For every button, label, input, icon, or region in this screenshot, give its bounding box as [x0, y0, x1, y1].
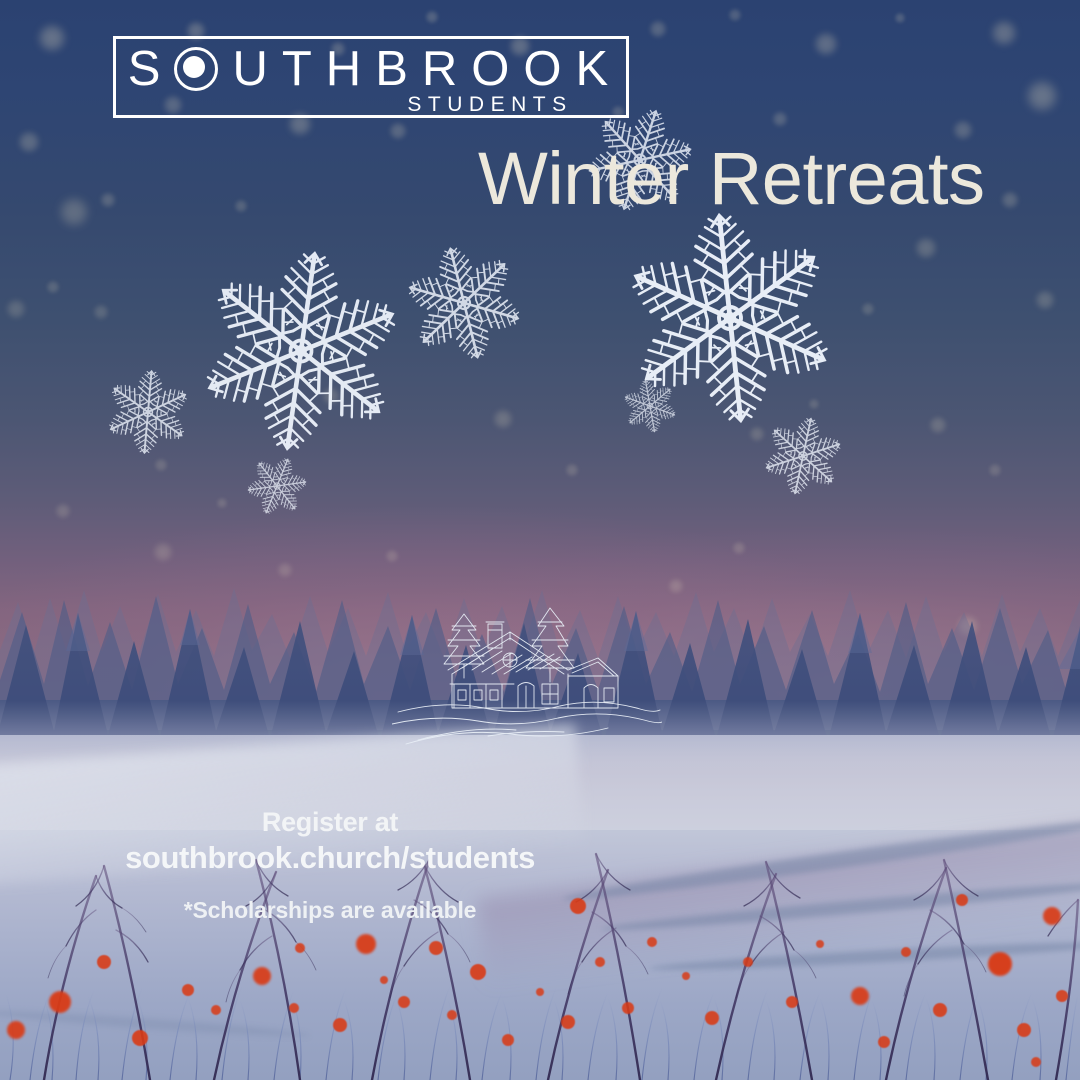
berry-dot [647, 937, 657, 947]
logo-letter-o1: O [471, 45, 509, 94]
berry-dot [536, 988, 544, 996]
winter-retreat-poster: S U T H B R O O K STUDENTS Winter Retrea… [0, 0, 1080, 1080]
berry-dot [1031, 1057, 1041, 1067]
berry-dot [901, 947, 911, 957]
berry-dot [851, 987, 869, 1005]
logo-letter-t: T [282, 45, 312, 94]
berry-dot [447, 1010, 457, 1020]
berry-dot [988, 952, 1012, 976]
berry-dot [7, 1021, 25, 1039]
logo-letter-k: K [576, 45, 609, 94]
logo-submark-students: STUDENTS [395, 95, 585, 115]
page-title: Winter Retreats [478, 142, 985, 216]
berry-dot [1056, 990, 1068, 1002]
logo-letter-b: B [375, 45, 408, 94]
berry-dot [502, 1034, 514, 1046]
berry-dot [356, 934, 376, 954]
aperture-dot-icon [174, 47, 218, 91]
berry-dot [743, 957, 753, 967]
berry-dot [956, 894, 968, 906]
berry-dot [622, 1002, 634, 1014]
berry-dot [1043, 907, 1061, 925]
berry-dot [211, 1005, 221, 1015]
logo-letter-o2: O [523, 45, 561, 94]
berry-dot [429, 941, 443, 955]
berry-dot [132, 1030, 148, 1046]
berry-dot [182, 984, 194, 996]
logo-letter-u: U [232, 45, 267, 94]
berry-dot [878, 1036, 890, 1048]
berry-dot [933, 1003, 947, 1017]
berry-dot [786, 996, 798, 1008]
berry-dot [398, 996, 410, 1008]
scholarship-footnote: *Scholarships are available [30, 897, 630, 924]
logo-letter-s: S [128, 45, 161, 94]
berry-dot [682, 972, 690, 980]
berry-dot [295, 943, 305, 953]
logo-wordmark[interactable]: S U T H B R O O K [113, 38, 623, 100]
logo-letter-h: H [326, 45, 361, 94]
berry-dot [816, 940, 824, 948]
snow-cabin-illustration [392, 596, 662, 746]
logo-letter-r: R [422, 45, 457, 94]
register-url[interactable]: southbrook.church/students [30, 839, 630, 877]
berry-dot [380, 976, 388, 984]
berry-dot [289, 1003, 299, 1013]
register-block: Register at southbrook.church/students [30, 805, 630, 877]
berry-dot [470, 964, 486, 980]
berry-dot [97, 955, 111, 969]
berry-dot [705, 1011, 719, 1025]
berry-dot [561, 1015, 575, 1029]
berry-dot [595, 957, 605, 967]
berry-dot [253, 967, 271, 985]
register-label: Register at [30, 805, 630, 839]
berry-dot [1017, 1023, 1031, 1037]
berry-dot [333, 1018, 347, 1032]
berry-dot [49, 991, 71, 1013]
